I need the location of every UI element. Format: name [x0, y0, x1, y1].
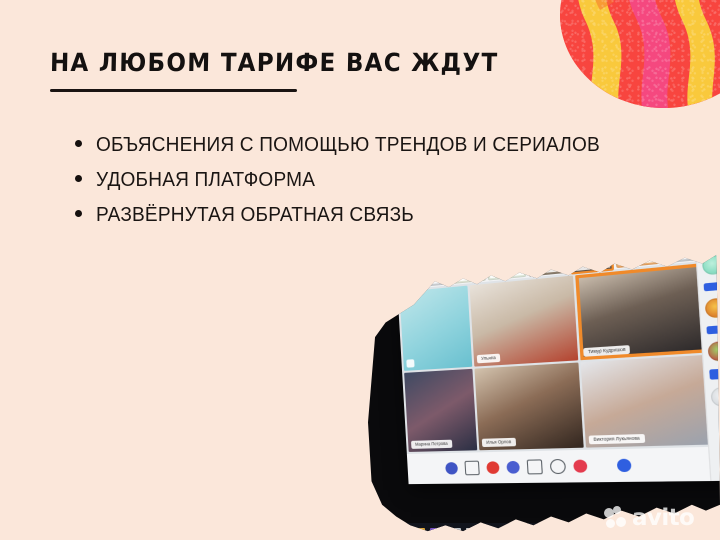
end-call-icon[interactable]	[486, 461, 499, 474]
video-tile-grid: Ульяна Тимур Кудряшов Марина Петрова Иль…	[397, 256, 720, 454]
thumbnail-4[interactable]	[569, 246, 615, 275]
rail-button-2[interactable]	[701, 323, 720, 335]
tile-name-label: Илья Орлов	[482, 438, 516, 447]
rail-action-button[interactable]	[704, 282, 720, 292]
taskbar-icon-6[interactable]	[454, 528, 461, 535]
taskbar-icon-5[interactable]	[442, 528, 449, 535]
avatar	[707, 341, 720, 362]
rail-action-button[interactable]	[709, 368, 720, 379]
list-item-label: ОБЪЯСНЕНИЯ С ПОМОЩЬЮ ТРЕНДОВ И СЕРИАЛОВ	[96, 133, 600, 157]
rail-row-3[interactable]: Н	[702, 339, 720, 362]
rail-button-1[interactable]	[699, 279, 720, 292]
rail-row-2[interactable]: С	[700, 295, 720, 319]
tile-name-label: Виктория Лукьянова	[589, 434, 645, 444]
tile-name-label: Ульяна	[477, 354, 500, 364]
decorative-blob-container	[560, 0, 720, 108]
video-call-screen-photo: Ульяна Тимур Кудряшов Марина Петрова Иль…	[368, 246, 720, 540]
rail-action-button[interactable]	[706, 325, 720, 334]
avatar	[705, 298, 720, 319]
list-item-label: РАЗВЁРНУТАЯ ОБРАТНАЯ СВЯЗЬ	[96, 203, 414, 227]
benefits-list: ОБЪЯСНЕНИЯ С ПОМОЩЬЮ ТРЕНДОВ И СЕРИАЛОВ …	[75, 133, 638, 238]
slide-canvas: НА ЛЮБОМ ТАРИФЕ ВАС ЖДУТ ОБЪЯСНЕНИЯ С ПО…	[0, 0, 720, 540]
bullet-dot-icon	[75, 140, 82, 147]
striped-circle-blob	[560, 0, 720, 108]
windows-taskbar	[374, 523, 720, 540]
emoji-icon[interactable]	[710, 387, 720, 407]
hand-icon[interactable]	[550, 459, 566, 474]
thumbnail-6[interactable]	[659, 246, 705, 264]
thumbnail-0[interactable]	[409, 254, 447, 288]
heart-icon[interactable]	[573, 460, 587, 473]
thumbnail-1[interactable]	[447, 250, 486, 285]
page-title: НА ЛЮБОМ ТАРИФЕ ВАС ЖДУТ	[50, 48, 499, 77]
blob-grain-texture	[560, 0, 720, 108]
microphone-icon[interactable]	[445, 462, 458, 474]
taskbar-icon-1[interactable]	[394, 528, 401, 535]
taskbar-icon-0[interactable]	[382, 528, 389, 535]
torn-photo-shape: Ульяна Тимур Кудряшов Марина Петрова Иль…	[368, 246, 720, 540]
list-item: РАЗВЁРНУТАЯ ОБРАТНАЯ СВЯЗЬ	[75, 203, 638, 227]
rail-row-0[interactable]: М	[695, 246, 720, 249]
list-item: ОБЪЯСНЕНИЯ С ПОМОЩЬЮ ТРЕНДОВ И СЕРИАЛОВ	[75, 133, 638, 157]
taskbar-icon-4[interactable]	[430, 528, 437, 535]
video-tile-1[interactable]: Ульяна	[469, 276, 578, 367]
bullet-dot-icon	[75, 210, 82, 217]
title-underline	[50, 89, 297, 92]
avatar	[702, 254, 720, 275]
cursor-icon[interactable]	[506, 461, 520, 474]
list-item-label: УДОБНАЯ ПЛАТФОРМА	[96, 168, 315, 192]
avatar	[700, 246, 720, 248]
rail-row-4[interactable]: Ещё	[705, 385, 720, 407]
bullet-dot-icon	[75, 175, 82, 182]
screenshot-icon[interactable]	[527, 459, 543, 474]
tile-name-label: Тимур Кудряшов	[583, 345, 630, 357]
video-tile-0[interactable]	[399, 286, 472, 371]
tile-name-label: Марина Петрова	[411, 440, 452, 449]
taskbar-icon-7[interactable]	[466, 528, 473, 535]
more-icon[interactable]	[595, 459, 610, 472]
video-tile-4[interactable]: Илья Орлов	[474, 362, 583, 450]
video-tile-3[interactable]: Марина Петрова	[404, 369, 477, 452]
taskbar-icon-2[interactable]	[406, 528, 413, 535]
rail-button-3[interactable]	[704, 367, 720, 380]
list-item: УДОБНАЯ ПЛАТФОРМА	[75, 168, 638, 192]
camera-icon[interactable]	[464, 461, 479, 476]
taskbar-icon-3[interactable]	[418, 528, 425, 535]
tile-name-label	[406, 359, 414, 368]
thumbnail-2[interactable]	[486, 246, 526, 281]
monitor-screen: Ульяна Тимур Кудряшов Марина Петрова Иль…	[395, 246, 720, 484]
video-tile-5[interactable]: Виктория Лукьянова	[581, 352, 720, 448]
send-icon[interactable]	[617, 459, 632, 472]
thumbnail-3[interactable]	[527, 246, 569, 277]
rail-row-1[interactable]: МЧ	[697, 251, 720, 276]
